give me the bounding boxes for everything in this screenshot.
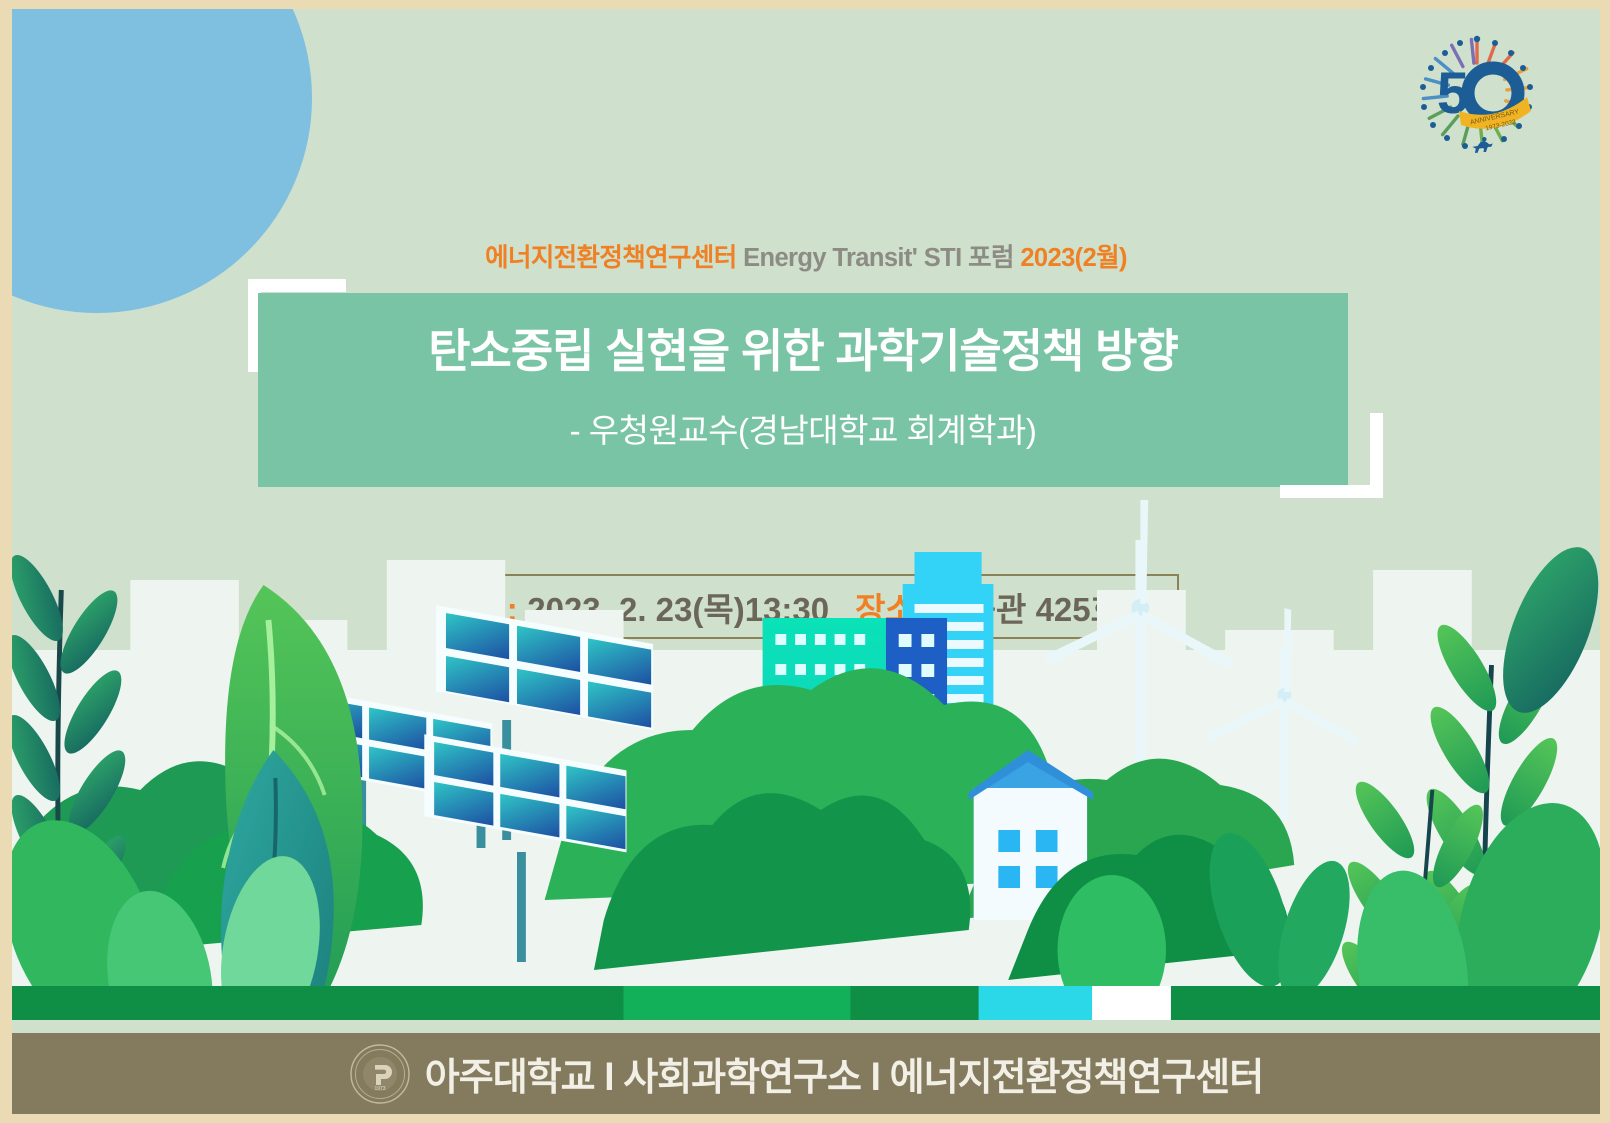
eco-illustration: [12, 500, 1600, 1020]
title-block: 탄소중립 실현을 위한 과학기술정책 방향 - 우청원교수(경남대학교 회계학과…: [248, 279, 1388, 501]
eyebrow-edition: 2023(2월): [1020, 244, 1127, 272]
eyebrow-series: Energy Transit' STI 포럼: [743, 244, 1014, 272]
svg-text:1973: 1973: [374, 1086, 385, 1092]
poster-frame: 5 ANNIVERSARY 1973-2023 에너지전환정책연구센터 Ener…: [0, 0, 1610, 1123]
bracket-top-left-horizontal: [248, 279, 346, 292]
eyebrow-organization: 에너지전환정책연구센터: [485, 244, 736, 272]
page-title: 탄소중립 실현을 위한 과학기술정책 방향: [258, 315, 1348, 381]
footer-bar: 1973 아주대학교 l 사회과학연구소 l 에너지전환정책연구센터: [12, 1033, 1600, 1114]
forum-eyebrow: 에너지전환정책연구센터 Energy Transit' STI 포럼 2023(…: [12, 237, 1600, 274]
anniversary-50-logo: 5 ANNIVERSARY 1973-2023: [1407, 27, 1547, 167]
footer-organizations: 아주대학교 l 사회과학연구소 l 에너지전환정책연구센터: [425, 1046, 1263, 1101]
poster-canvas: 5 ANNIVERSARY 1973-2023 에너지전환정책연구센터 Ener…: [12, 9, 1600, 1114]
speaker-name: - 우청원교수(경남대학교 회계학과): [258, 404, 1348, 452]
bracket-bottom-right-horizontal: [1280, 485, 1383, 498]
ajou-university-emblem-icon: 1973: [349, 1043, 411, 1105]
ground: [12, 986, 1600, 1020]
